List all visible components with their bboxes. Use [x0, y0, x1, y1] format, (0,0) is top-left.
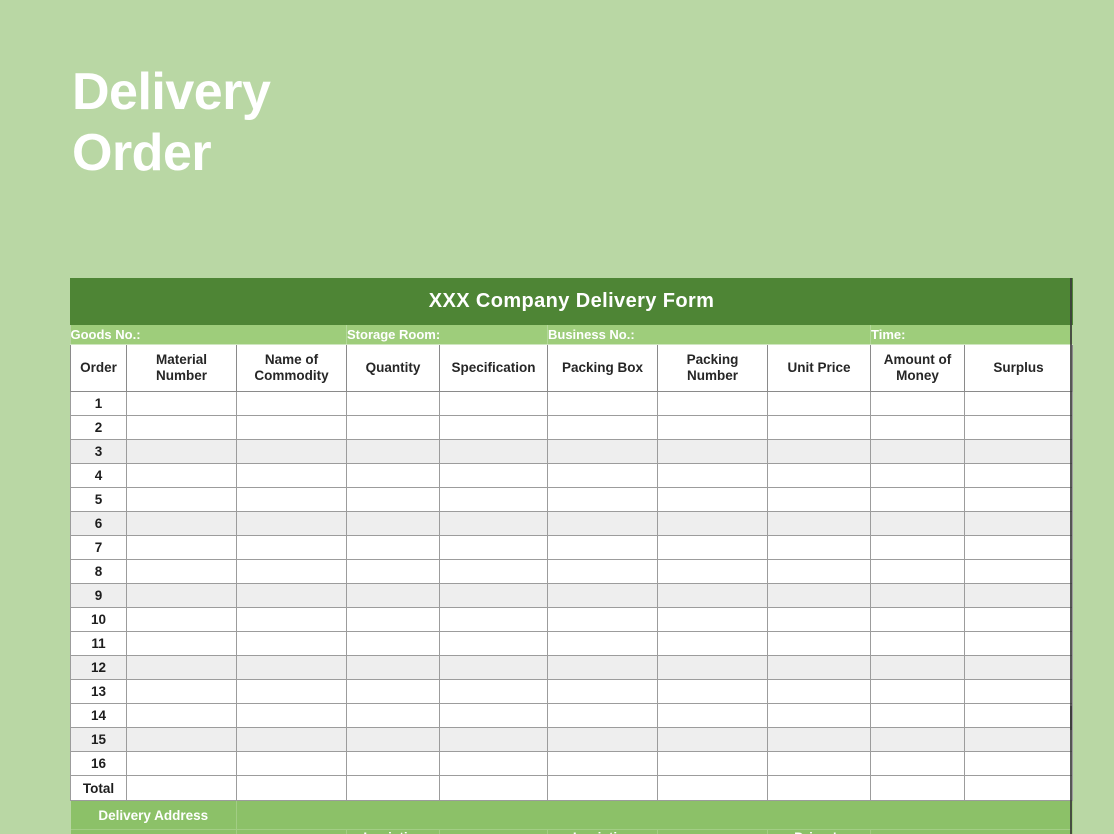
table-row: 3: [71, 440, 1073, 464]
cell-unit_price[interactable]: [768, 752, 871, 776]
cell-specification[interactable]: [440, 680, 548, 704]
cell-unit_price[interactable]: [768, 632, 871, 656]
row-index-cell: 2: [71, 416, 127, 440]
cell-packing_box[interactable]: [548, 752, 658, 776]
cell-surplus[interactable]: [965, 488, 1073, 512]
cell-commodity[interactable]: [237, 464, 347, 488]
cell-commodity[interactable]: [237, 632, 347, 656]
cell-unit_price[interactable]: [768, 608, 871, 632]
delivery-form-sheet: XXX Company Delivery Form Goods No.: Sto…: [70, 278, 1074, 834]
cell-amount[interactable]: [871, 584, 965, 608]
cell-amount[interactable]: [871, 440, 965, 464]
cell-quantity[interactable]: [347, 584, 440, 608]
cell-packing_box[interactable]: [548, 704, 658, 728]
col-header-surplus: Surplus: [965, 345, 1073, 392]
cell-surplus[interactable]: [965, 464, 1073, 488]
total-packing-num[interactable]: [658, 776, 768, 801]
cell-amount[interactable]: [871, 536, 965, 560]
cell-unit_price[interactable]: [768, 704, 871, 728]
row-index-cell: 4: [71, 464, 127, 488]
cell-surplus[interactable]: [965, 752, 1073, 776]
total-label: Total: [71, 776, 127, 801]
signature-row: Logistics Logistics Driver's: [71, 830, 1073, 834]
cell-packing_box[interactable]: [548, 728, 658, 752]
table-row: 13: [71, 680, 1073, 704]
cell-amount[interactable]: [871, 608, 965, 632]
cell-packing_box[interactable]: [548, 440, 658, 464]
cell-commodity[interactable]: [237, 584, 347, 608]
cell-amount[interactable]: [871, 392, 965, 416]
row-index-cell: 13: [71, 680, 127, 704]
cell-material[interactable]: [127, 680, 237, 704]
cell-packing_box[interactable]: [548, 560, 658, 584]
cell-packing_box[interactable]: [548, 536, 658, 560]
cell-quantity[interactable]: [347, 752, 440, 776]
cell-unit_price[interactable]: [768, 656, 871, 680]
cell-quantity[interactable]: [347, 536, 440, 560]
cell-packing_num[interactable]: [658, 632, 768, 656]
cell-commodity[interactable]: [237, 560, 347, 584]
cell-packing_num[interactable]: [658, 752, 768, 776]
cell-packing_box[interactable]: [548, 392, 658, 416]
cell-specification[interactable]: [440, 728, 548, 752]
cell-surplus[interactable]: [965, 608, 1073, 632]
cell-amount[interactable]: [871, 632, 965, 656]
col-header-commodity: Name of Commodity: [237, 345, 347, 392]
info-fields-row: Goods No.: Storage Room: Business No.: T…: [71, 325, 1073, 345]
table-row: 11: [71, 632, 1073, 656]
cell-amount[interactable]: [871, 704, 965, 728]
total-amount[interactable]: [871, 776, 965, 801]
info-field-business-no[interactable]: Business No.:: [548, 325, 871, 345]
column-header-row: Order Material Number Name of Commodity …: [71, 345, 1073, 392]
row-index-cell: 8: [71, 560, 127, 584]
cell-quantity[interactable]: [347, 632, 440, 656]
total-material[interactable]: [127, 776, 237, 801]
cell-commodity[interactable]: [237, 752, 347, 776]
cell-surplus[interactable]: [965, 416, 1073, 440]
cell-surplus[interactable]: [965, 560, 1073, 584]
cell-packing_num[interactable]: [658, 584, 768, 608]
cell-commodity[interactable]: [237, 512, 347, 536]
table-row: 12: [71, 656, 1073, 680]
cell-quantity[interactable]: [347, 680, 440, 704]
total-unit-price[interactable]: [768, 776, 871, 801]
total-surplus[interactable]: [965, 776, 1073, 801]
cell-unit_price[interactable]: [768, 440, 871, 464]
cell-packing_box[interactable]: [548, 632, 658, 656]
cell-specification[interactable]: [440, 584, 548, 608]
cell-material[interactable]: [127, 560, 237, 584]
cell-specification[interactable]: [440, 488, 548, 512]
cell-quantity[interactable]: [347, 392, 440, 416]
cell-packing_num[interactable]: [658, 656, 768, 680]
delivery-address-value[interactable]: [237, 801, 1073, 830]
signature-cell-0[interactable]: [71, 830, 237, 834]
cell-unit_price[interactable]: [768, 584, 871, 608]
table-row: 8: [71, 560, 1073, 584]
cell-packing_box[interactable]: [548, 656, 658, 680]
row-index-cell: 15: [71, 728, 127, 752]
row-index-cell: 6: [71, 512, 127, 536]
cell-surplus[interactable]: [965, 728, 1073, 752]
row-index-cell: 3: [71, 440, 127, 464]
cell-packing_box[interactable]: [548, 416, 658, 440]
cell-packing_num[interactable]: [658, 416, 768, 440]
cell-amount[interactable]: [871, 656, 965, 680]
cell-unit_price[interactable]: [768, 392, 871, 416]
cell-specification[interactable]: [440, 416, 548, 440]
cell-amount[interactable]: [871, 680, 965, 704]
table-row: 7: [71, 536, 1073, 560]
row-index-cell: 5: [71, 488, 127, 512]
signature-cell-5[interactable]: [658, 830, 768, 834]
cell-commodity[interactable]: [237, 728, 347, 752]
col-header-quantity: Quantity: [347, 345, 440, 392]
cell-commodity[interactable]: [237, 608, 347, 632]
cell-specification[interactable]: [440, 464, 548, 488]
row-index-cell: 14: [71, 704, 127, 728]
cell-unit_price[interactable]: [768, 728, 871, 752]
row-index-cell: 10: [71, 608, 127, 632]
cell-packing_box[interactable]: [548, 464, 658, 488]
cell-packing_num[interactable]: [658, 536, 768, 560]
cell-unit_price[interactable]: [768, 512, 871, 536]
cell-specification[interactable]: [440, 704, 548, 728]
table-row: 15: [71, 728, 1073, 752]
cell-commodity[interactable]: [237, 656, 347, 680]
cell-surplus[interactable]: [965, 440, 1073, 464]
table-row: 9: [71, 584, 1073, 608]
delivery-form-table: XXX Company Delivery Form Goods No.: Sto…: [70, 278, 1073, 834]
info-field-time[interactable]: Time:: [871, 325, 1073, 345]
cell-quantity[interactable]: [347, 728, 440, 752]
cell-specification[interactable]: [440, 512, 548, 536]
cell-specification[interactable]: [440, 560, 548, 584]
cell-specification[interactable]: [440, 440, 548, 464]
cell-surplus[interactable]: [965, 512, 1073, 536]
table-row: 10: [71, 608, 1073, 632]
col-header-amount: Amount of Money: [871, 345, 965, 392]
cell-specification[interactable]: [440, 656, 548, 680]
cell-quantity[interactable]: [347, 608, 440, 632]
signature-cell-logistics-2: Logistics: [548, 830, 658, 834]
cell-commodity[interactable]: [237, 392, 347, 416]
signature-cell-1[interactable]: [237, 830, 347, 834]
row-index-cell: 9: [71, 584, 127, 608]
cell-quantity[interactable]: [347, 560, 440, 584]
cell-material[interactable]: [127, 416, 237, 440]
cell-packing_box[interactable]: [548, 608, 658, 632]
table-row: 1: [71, 392, 1073, 416]
cell-packing_num[interactable]: [658, 704, 768, 728]
cell-packing_box[interactable]: [548, 512, 658, 536]
col-header-unit-price: Unit Price: [768, 345, 871, 392]
cell-packing_num[interactable]: [658, 464, 768, 488]
cell-packing_num[interactable]: [658, 728, 768, 752]
total-packing-box[interactable]: [548, 776, 658, 801]
cell-packing_box[interactable]: [548, 584, 658, 608]
col-header-material: Material Number: [127, 345, 237, 392]
cell-packing_num[interactable]: [658, 440, 768, 464]
cell-material[interactable]: [127, 512, 237, 536]
cell-quantity[interactable]: [347, 416, 440, 440]
table-row: 2: [71, 416, 1073, 440]
cell-quantity[interactable]: [347, 512, 440, 536]
cell-quantity[interactable]: [347, 464, 440, 488]
cell-material[interactable]: [127, 608, 237, 632]
cell-material[interactable]: [127, 584, 237, 608]
signature-cell-driver: Driver's: [768, 830, 871, 834]
form-banner-title: XXX Company Delivery Form: [71, 279, 1073, 325]
cell-amount[interactable]: [871, 416, 965, 440]
cell-specification[interactable]: [440, 752, 548, 776]
cell-specification[interactable]: [440, 536, 548, 560]
cell-amount[interactable]: [871, 560, 965, 584]
cell-specification[interactable]: [440, 632, 548, 656]
cell-material[interactable]: [127, 656, 237, 680]
cell-surplus[interactable]: [965, 392, 1073, 416]
cell-packing_num[interactable]: [658, 560, 768, 584]
sheet-right-rule: [1070, 278, 1072, 730]
cell-quantity[interactable]: [347, 704, 440, 728]
cell-unit_price[interactable]: [768, 536, 871, 560]
cell-packing_num[interactable]: [658, 392, 768, 416]
table-banner-row: XXX Company Delivery Form: [71, 279, 1073, 325]
cell-quantity[interactable]: [347, 440, 440, 464]
cell-unit_price[interactable]: [768, 680, 871, 704]
cell-packing_num[interactable]: [658, 608, 768, 632]
cell-amount[interactable]: [871, 752, 965, 776]
cell-quantity[interactable]: [347, 488, 440, 512]
col-header-packing-num: Packing Number: [658, 345, 768, 392]
table-row: 5: [71, 488, 1073, 512]
cell-commodity[interactable]: [237, 416, 347, 440]
cell-surplus[interactable]: [965, 536, 1073, 560]
sheet-right-rule-lower: [1070, 706, 1072, 834]
signature-cell-7[interactable]: [871, 830, 1073, 834]
cell-material[interactable]: [127, 728, 237, 752]
cell-material[interactable]: [127, 392, 237, 416]
cell-amount[interactable]: [871, 488, 965, 512]
cell-surplus[interactable]: [965, 632, 1073, 656]
info-field-goods-no[interactable]: Goods No.:: [71, 325, 347, 345]
cell-specification[interactable]: [440, 392, 548, 416]
table-row: 14: [71, 704, 1073, 728]
cell-material[interactable]: [127, 536, 237, 560]
cell-commodity[interactable]: [237, 440, 347, 464]
total-specification[interactable]: [440, 776, 548, 801]
cell-unit_price[interactable]: [768, 464, 871, 488]
cell-commodity[interactable]: [237, 680, 347, 704]
cell-amount[interactable]: [871, 728, 965, 752]
cell-unit_price[interactable]: [768, 488, 871, 512]
col-header-specification: Specification: [440, 345, 548, 392]
table-total-row: Total: [71, 776, 1073, 801]
cell-quantity[interactable]: [347, 656, 440, 680]
cell-surplus[interactable]: [965, 704, 1073, 728]
col-header-order: Order: [71, 345, 127, 392]
total-quantity[interactable]: [347, 776, 440, 801]
cell-specification[interactable]: [440, 608, 548, 632]
cell-packing_num[interactable]: [658, 680, 768, 704]
cell-surplus[interactable]: [965, 656, 1073, 680]
total-commodity[interactable]: [237, 776, 347, 801]
cell-material[interactable]: [127, 704, 237, 728]
cell-unit_price[interactable]: [768, 560, 871, 584]
cell-packing_num[interactable]: [658, 512, 768, 536]
cell-commodity[interactable]: [237, 488, 347, 512]
cell-packing_box[interactable]: [548, 680, 658, 704]
cell-unit_price[interactable]: [768, 416, 871, 440]
table-row: 16: [71, 752, 1073, 776]
cell-amount[interactable]: [871, 464, 965, 488]
table-row: 6: [71, 512, 1073, 536]
row-index-cell: 7: [71, 536, 127, 560]
row-index-cell: 1: [71, 392, 127, 416]
cell-packing_box[interactable]: [548, 488, 658, 512]
delivery-address-label: Delivery Address: [71, 801, 237, 830]
table-row: 4: [71, 464, 1073, 488]
row-index-cell: 12: [71, 656, 127, 680]
cell-material[interactable]: [127, 752, 237, 776]
cell-material[interactable]: [127, 488, 237, 512]
cell-material[interactable]: [127, 464, 237, 488]
cell-surplus[interactable]: [965, 680, 1073, 704]
cell-surplus[interactable]: [965, 584, 1073, 608]
page-title: Delivery Order: [72, 62, 592, 185]
cell-commodity[interactable]: [237, 536, 347, 560]
cell-material[interactable]: [127, 632, 237, 656]
cell-amount[interactable]: [871, 512, 965, 536]
info-field-storage-room[interactable]: Storage Room:: [347, 325, 548, 345]
col-header-packing-box: Packing Box: [548, 345, 658, 392]
cell-packing_num[interactable]: [658, 488, 768, 512]
row-index-cell: 16: [71, 752, 127, 776]
cell-commodity[interactable]: [237, 704, 347, 728]
signature-cell-logistics-1: Logistics: [347, 830, 440, 834]
cell-material[interactable]: [127, 440, 237, 464]
row-index-cell: 11: [71, 632, 127, 656]
delivery-address-row: Delivery Address: [71, 801, 1073, 830]
signature-cell-3[interactable]: [440, 830, 548, 834]
